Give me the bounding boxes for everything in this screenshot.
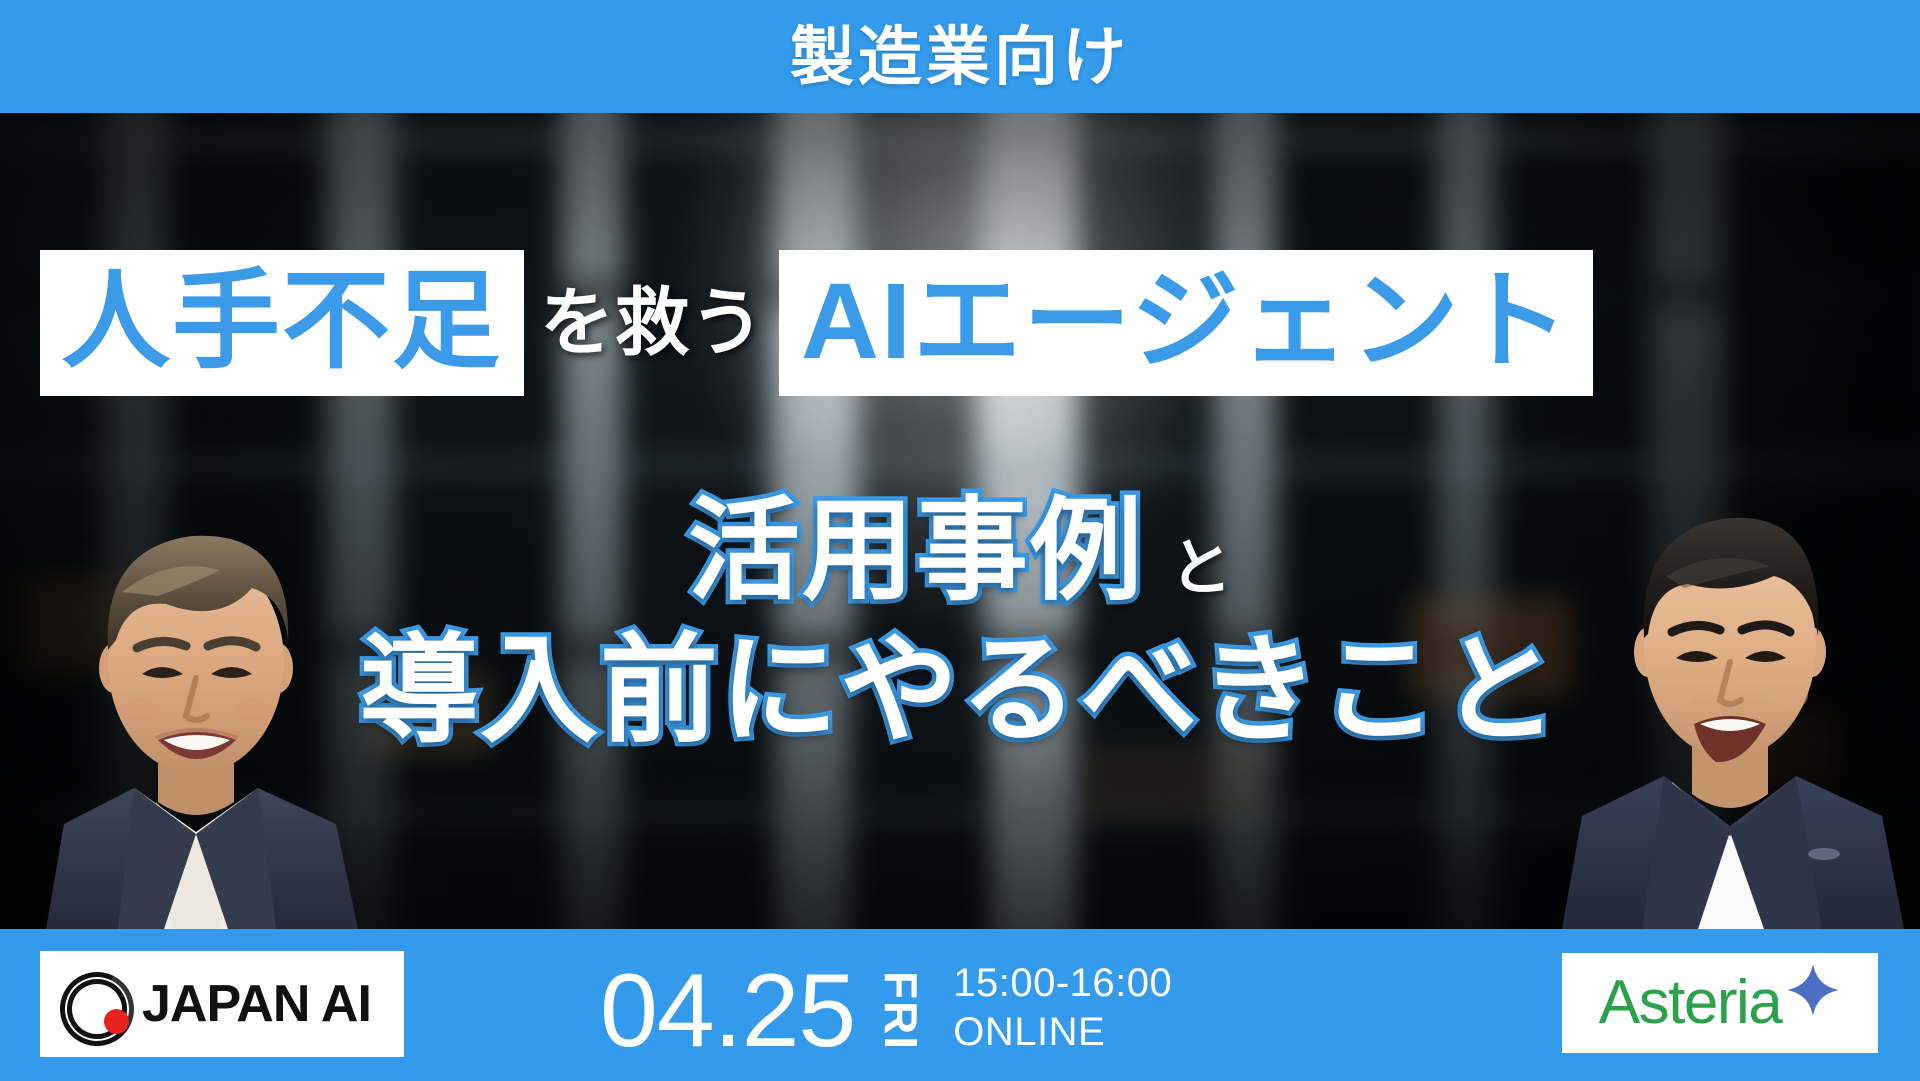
event-weekday: FRI [878, 971, 924, 1051]
japan-ai-logo[interactable]: JAPAN AI [40, 951, 404, 1057]
headline-outlined-text-2: 活用事例 [688, 495, 1144, 607]
headline-line-2: 活用事例 と [0, 495, 1920, 607]
lapel-pin [1808, 848, 1840, 860]
event-date: 04.25 [600, 961, 855, 1063]
headline-highlight-box-2: AIエージェント [779, 250, 1593, 396]
asteria-logo-text: Asteria [1599, 972, 1781, 1034]
headline-highlight-box-1: 人手不足 [40, 250, 524, 396]
headline-line-1: 人手不足 を救う AIエージェント [0, 253, 1920, 393]
event-date-group: 04.25 FRI 15:00-16:00 ONLINE [600, 947, 1172, 1063]
event-weekday-wrapper: FRI [873, 959, 929, 1063]
footer-bar: JAPAN AI 04.25 FRI 15:00-16:00 ONLINE As… [0, 929, 1920, 1081]
sparkle-star-icon [1785, 962, 1841, 1018]
japan-ai-logo-text: JAPAN AI [142, 978, 371, 1030]
headline-connector-1: を救う [540, 286, 765, 360]
headline-outlined-text-3: 導入前にやるべきこと [360, 632, 1560, 750]
target-audience-label: 製造業向け [790, 25, 1130, 89]
red-dot-icon [104, 1009, 129, 1034]
headline-line-3: 導入前にやるべきこと [0, 632, 1920, 750]
event-time-block: 15:00-16:00 ONLINE [953, 959, 1172, 1063]
asteria-logo[interactable]: Asteria [1562, 953, 1878, 1053]
top-banner-bar: 製造業向け [0, 0, 1920, 113]
japan-ai-circle-icon [58, 968, 130, 1040]
event-mode: ONLINE [953, 1008, 1172, 1057]
headline-conjunction: と [1170, 538, 1232, 600]
event-time: 15:00-16:00 [953, 959, 1172, 1008]
webinar-banner: 製造業向け [0, 0, 1920, 1081]
